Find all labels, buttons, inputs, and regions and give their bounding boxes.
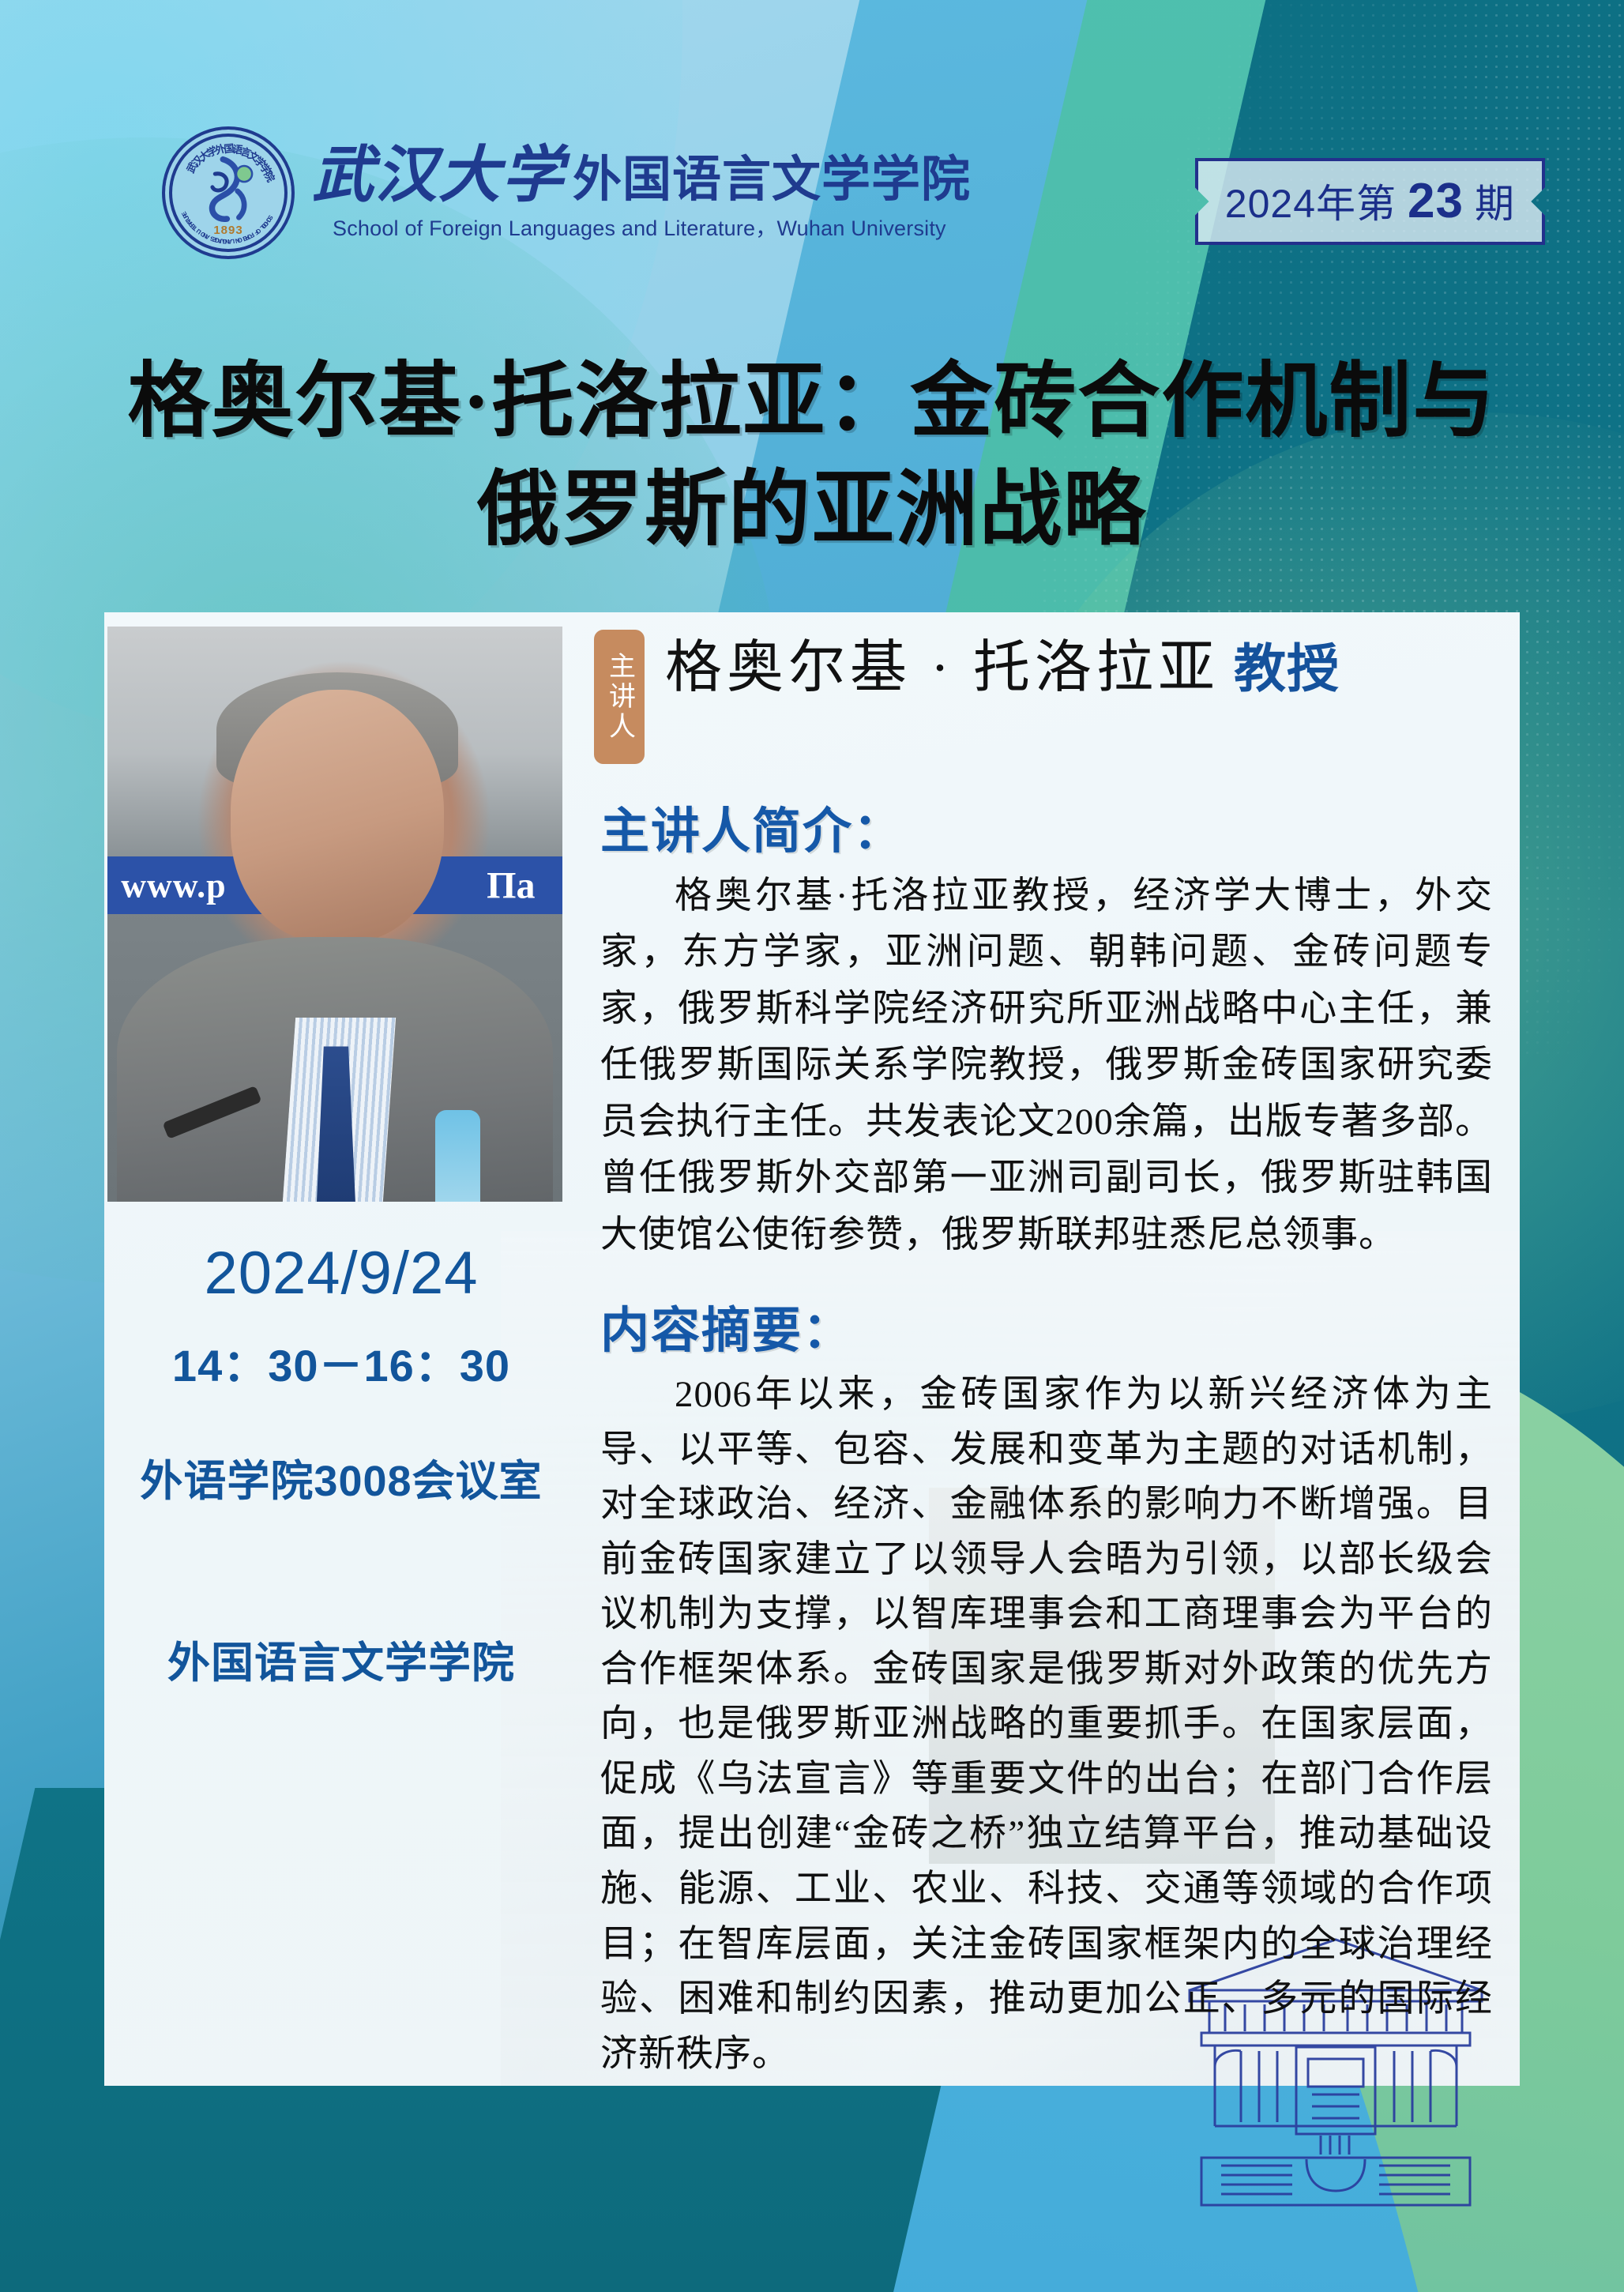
event-datetime: 2024/9/24 14：30－16：30 xyxy=(104,1240,578,1394)
title-line-2: 俄罗斯的亚洲战略 xyxy=(0,456,1624,564)
crest-ring-text: 武汉大学外国语言文学学院SCHOOL OF FOREIGN LANGUAGES … xyxy=(165,130,291,256)
abstract-heading: 内容摘要： xyxy=(600,1290,1498,1361)
issue-badge: 2024年第 23 期 xyxy=(1195,158,1545,245)
bio-body: 格奥尔基·托洛拉亚教授，经济学大博士，外交家，东方学家，亚洲问题、朝韩问题、金砖… xyxy=(600,868,1493,1263)
right-column: 主讲人 格奥尔基 · 托洛拉亚 教授 主讲人简介： 格奥尔基·托洛拉亚教授，经济… xyxy=(594,612,1498,2086)
speaker-portrait-photo xyxy=(107,627,562,1202)
left-column: 2024/9/24 14：30－16：30 外语学院3008会议室 外国语言文学… xyxy=(104,612,578,2086)
speaker-name-row: 主讲人 格奥尔基 · 托洛拉亚 教授 xyxy=(594,612,1498,764)
poster-root: 1893 武汉大学外国语言文学学院SCHOOL OF FOREIGN LANGU… xyxy=(0,0,1624,2292)
issue-number: 23 xyxy=(1400,173,1472,229)
school-name-cn: 外国语言文学学院 xyxy=(573,154,971,205)
portrait-head xyxy=(231,690,445,943)
speaker-name: 格奥尔基 · 托洛拉亚 教授 xyxy=(665,630,1340,702)
speaker-name-text: 格奥尔基 · 托洛拉亚 xyxy=(665,634,1220,702)
school-logo-lockup: 1893 武汉大学外国语言文学学院SCHOOL OF FOREIGN LANGU… xyxy=(162,126,971,259)
event-organizer: 外国语言文学学院 xyxy=(104,1628,578,1690)
school-wordmark: 武汉大学 外国语言文学学院 School of Foreign Language… xyxy=(312,145,971,242)
speaker-label-badge: 主讲人 xyxy=(594,630,645,764)
title-line-1: 格奥尔基·托洛拉亚：金砖合作机制与 xyxy=(128,356,1497,447)
university-name-cn: 武汉大学 xyxy=(312,145,565,206)
poster-header: 1893 武汉大学外国语言文学学院SCHOOL OF FOREIGN LANGU… xyxy=(0,0,1624,253)
event-time: 14：30－16：30 xyxy=(104,1330,578,1394)
event-venue: 外语学院3008会议室 xyxy=(104,1446,578,1508)
portrait-water-bottle xyxy=(435,1110,481,1202)
school-name-en: School of Foreign Languages and Literatu… xyxy=(333,211,971,242)
issue-suffix: 期 xyxy=(1475,172,1515,229)
content-panel: 2024/9/24 14：30－16：30 外语学院3008会议室 外国语言文学… xyxy=(104,612,1520,2086)
university-crest-icon: 1893 武汉大学外国语言文学学院SCHOOL OF FOREIGN LANGU… xyxy=(162,126,295,259)
event-date: 2024/9/24 xyxy=(104,1240,578,1307)
abstract-body: 2006年以来，金砖国家作为以新兴经济体为主导、以平等、包容、发展和变革为主题的… xyxy=(600,1368,1493,2082)
speaker-academic-title: 教授 xyxy=(1234,638,1340,700)
poster-title: 格奥尔基·托洛拉亚：金砖合作机制与 俄罗斯的亚洲战略 xyxy=(0,348,1624,565)
bio-heading: 主讲人简介： xyxy=(600,791,1498,862)
issue-prefix: 2024年第 xyxy=(1225,172,1397,229)
